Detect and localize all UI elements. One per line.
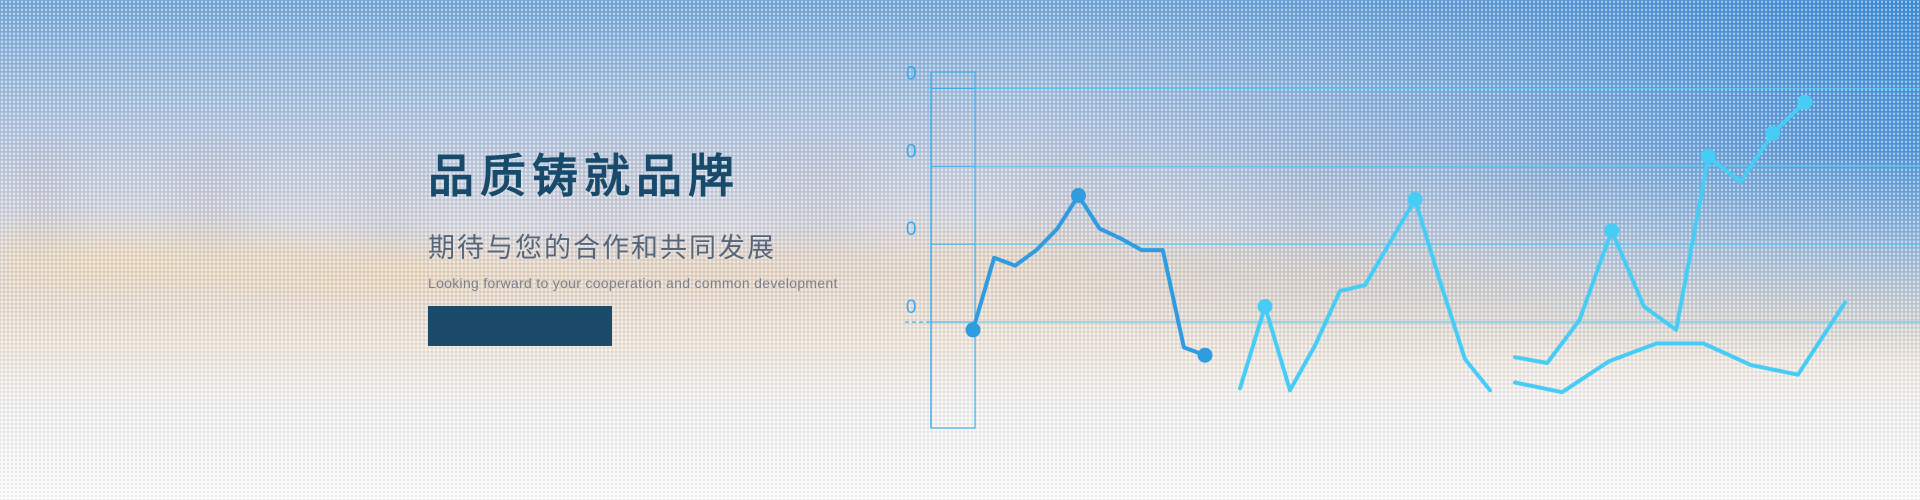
data-point-marker[interactable] — [1798, 95, 1813, 110]
data-point-marker[interactable] — [966, 322, 981, 337]
data-point-marker[interactable] — [1701, 149, 1716, 164]
y-axis-tick-label: 60000 — [905, 219, 917, 240]
series-2 — [1240, 192, 1490, 390]
data-point-marker[interactable] — [1408, 192, 1423, 207]
page-title: 品质铸就品牌 — [428, 152, 948, 200]
series-1 — [966, 188, 1213, 363]
hero-banner: 品质铸就品牌 期待与您的合作和共同发展 Looking forward to y… — [0, 0, 1920, 500]
y-axis-tick-label: 100000 — [905, 63, 917, 84]
data-point-marker[interactable] — [1604, 223, 1619, 238]
chart-svg: 100000800006000040000 — [905, 0, 1920, 500]
y-axis-tick-label: 40000 — [905, 297, 917, 318]
banner-copy: 品质铸就品牌 期待与您的合作和共同发展 Looking forward to y… — [428, 152, 948, 291]
data-point-marker[interactable] — [1198, 348, 1213, 363]
series-3 — [1515, 95, 1813, 363]
series-line — [973, 196, 1205, 356]
y-axis-tick-label: 80000 — [905, 141, 917, 162]
banner-subtitle-cn: 期待与您的合作和共同发展 — [428, 226, 948, 265]
data-point-marker[interactable] — [1071, 188, 1086, 203]
series-line — [1515, 102, 1805, 363]
banner-subtitle-en: Looking forward to your cooperation and … — [428, 275, 948, 291]
line-chart: 100000800006000040000 — [905, 0, 1920, 500]
axis-highlight-box — [931, 72, 975, 428]
data-point-marker[interactable] — [1765, 126, 1780, 141]
series-line — [1240, 199, 1490, 390]
learn-more-button[interactable] — [428, 306, 612, 346]
data-point-marker[interactable] — [1258, 299, 1273, 314]
